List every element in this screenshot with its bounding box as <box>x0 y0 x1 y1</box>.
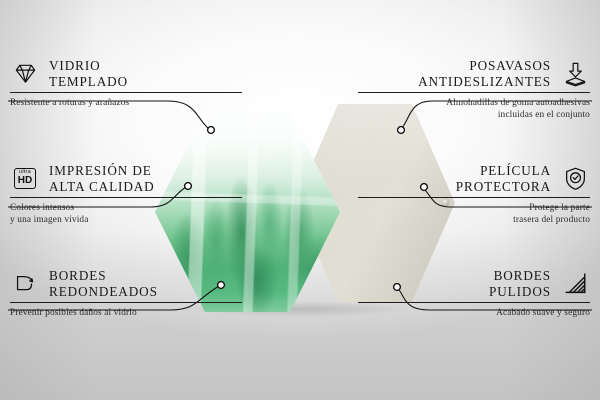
divider <box>358 92 590 93</box>
feature-title: BORDES PULIDOS <box>489 268 551 299</box>
title-line-1: POSAVASOS <box>418 58 551 74</box>
feature-header: VIDRIO TEMPLADO <box>10 58 242 89</box>
feature-subtitle: Almohadillas de goma autoadhesivas inclu… <box>358 97 590 122</box>
subtitle-line-1: Colores intensos <box>10 202 242 214</box>
subtitle-line-2: trasera del producto <box>358 214 590 226</box>
rubber-pad <box>313 272 320 279</box>
feature-tempered-glass[interactable]: VIDRIO TEMPLADO Resistente a roturas y a… <box>10 58 242 109</box>
feature-protective-film[interactable]: PELÍCULA PROTECTORA Protege la parte tra… <box>358 163 590 227</box>
divider <box>358 302 590 303</box>
divider <box>10 92 242 93</box>
title-line-2: PROTECTORA <box>456 179 551 195</box>
ultra-hd-bottom-text: HD <box>18 176 32 186</box>
ultra-hd-icon: ultra HD <box>10 164 40 194</box>
subtitle-line-1: Almohadillas de goma autoadhesivas <box>358 97 590 109</box>
feature-title: IMPRESIÓN DE ALTA CALIDAD <box>49 163 155 194</box>
title-line-1: PELÍCULA <box>456 163 551 179</box>
divider <box>358 197 590 198</box>
shield-check-icon <box>560 164 590 194</box>
diamond-icon <box>10 59 40 89</box>
title-line-1: BORDES <box>49 268 158 284</box>
feature-non-slip-coasters[interactable]: POSAVASOS ANTIDESLIZANTES Almohadillas d… <box>358 58 590 122</box>
title-line-1: VIDRIO <box>49 58 128 74</box>
title-line-2: REDONDEADOS <box>49 284 158 300</box>
feature-title: PELÍCULA PROTECTORA <box>456 163 551 194</box>
feature-header: POSAVASOS ANTIDESLIZANTES <box>358 58 590 89</box>
infographic-canvas: VIDRIO TEMPLADO Resistente a roturas y a… <box>0 0 600 400</box>
title-line-2: ANTIDESLIZANTES <box>418 74 551 90</box>
rounded-corner-icon <box>10 269 40 299</box>
title-line-1: BORDES <box>489 268 551 284</box>
feature-polished-edges[interactable]: BORDES PULIDOS Acabado suave y seguro <box>358 268 590 319</box>
diagonal-lines-icon <box>560 269 590 299</box>
title-line-2: PULIDOS <box>489 284 551 300</box>
feature-subtitle: Colores intensos y una imagen vívida <box>10 202 242 227</box>
subtitle-line-2: incluidas en el conjunto <box>358 109 590 121</box>
rubber-pad <box>426 128 433 135</box>
title-line-1: IMPRESIÓN DE <box>49 163 155 179</box>
subtitle-line-1: Protege la parte <box>358 202 590 214</box>
rubber-pad <box>313 128 320 135</box>
feature-subtitle: Protege la parte trasera del producto <box>358 202 590 227</box>
feature-header: BORDES PULIDOS <box>358 268 590 299</box>
press-pad-icon <box>560 59 590 89</box>
divider <box>10 302 242 303</box>
feature-subtitle: Resistente a roturas y arañazos <box>10 97 242 109</box>
feature-rounded-edges[interactable]: BORDES REDONDEADOS Prevenir posibles dañ… <box>10 268 242 319</box>
feature-subtitle: Acabado suave y seguro <box>358 307 590 319</box>
feature-high-quality-print[interactable]: ultra HD IMPRESIÓN DE ALTA CALIDAD Color… <box>10 163 242 227</box>
feature-subtitle: Prevenir posibles daños al vidrio <box>10 307 242 319</box>
feature-header: BORDES REDONDEADOS <box>10 268 242 299</box>
feature-title: VIDRIO TEMPLADO <box>49 58 128 89</box>
subtitle-line-2: y una imagen vívida <box>10 214 242 226</box>
title-line-2: TEMPLADO <box>49 74 128 90</box>
divider <box>10 197 242 198</box>
title-line-2: ALTA CALIDAD <box>49 179 155 195</box>
feature-title: BORDES REDONDEADOS <box>49 268 158 299</box>
feature-title: POSAVASOS ANTIDESLIZANTES <box>418 58 551 89</box>
feature-header: ultra HD IMPRESIÓN DE ALTA CALIDAD <box>10 163 242 194</box>
feature-header: PELÍCULA PROTECTORA <box>358 163 590 194</box>
